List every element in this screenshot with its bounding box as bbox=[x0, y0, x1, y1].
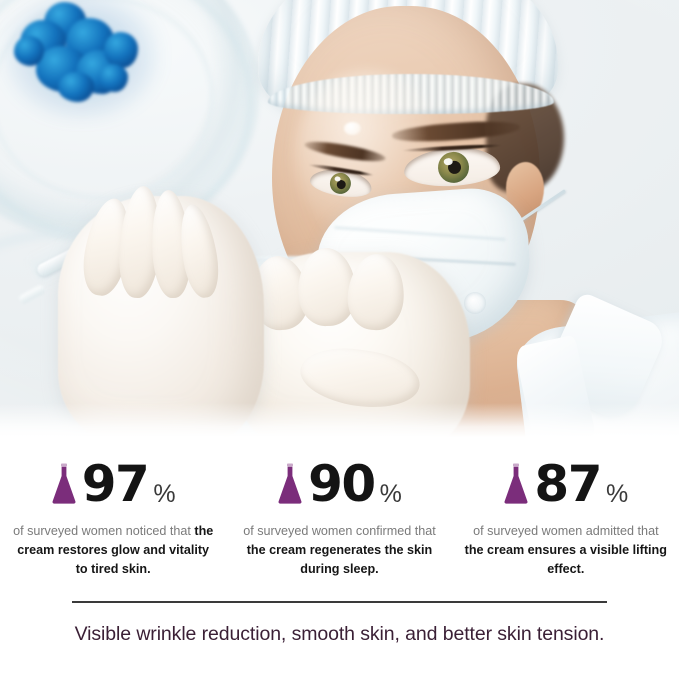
divider-rule bbox=[72, 601, 607, 603]
stat-number-3: 87 bbox=[534, 459, 601, 509]
stat-lead-3: of surveyed women admitted that bbox=[473, 524, 659, 538]
stat-emphasis-3: the cream ensures a visible lifting effe… bbox=[465, 543, 667, 576]
stat-card-2: 90 % of surveyed women confirmed that th… bbox=[226, 455, 452, 579]
stat-figure-3: 87 % bbox=[503, 455, 628, 513]
stat-number-2: 90 bbox=[308, 459, 375, 509]
stat-percent-3: % bbox=[606, 482, 628, 513]
hero-photo bbox=[0, 0, 679, 437]
stat-emphasis-2: the cream regenerates the skin during sl… bbox=[247, 543, 433, 576]
stat-number-1: 97 bbox=[82, 459, 149, 509]
cream-dot-on-forehead bbox=[344, 122, 361, 135]
stat-figure-1: 97 % bbox=[51, 455, 176, 513]
stat-description-1: of surveyed women noticed that the cream… bbox=[10, 522, 216, 579]
face-mask-valve bbox=[464, 292, 486, 314]
flask-icon bbox=[503, 463, 529, 505]
flask-icon bbox=[51, 463, 77, 505]
stat-lead-1: of surveyed women noticed that bbox=[13, 524, 194, 538]
stat-percent-2: % bbox=[380, 482, 402, 513]
stat-percent-1: % bbox=[153, 482, 175, 513]
flask-icon bbox=[277, 463, 303, 505]
blue-crystal-specimen bbox=[14, 2, 142, 106]
stat-lead-2: of surveyed women confirmed that bbox=[243, 524, 436, 538]
stat-card-1: 97 % of surveyed women noticed that the … bbox=[0, 455, 226, 579]
footer-tagline: Visible wrinkle reduction, smooth skin, … bbox=[0, 621, 679, 647]
stat-figure-2: 90 % bbox=[277, 455, 402, 513]
stat-description-2: of surveyed women confirmed that the cre… bbox=[236, 522, 442, 579]
infographic-root: 97 % of surveyed women noticed that the … bbox=[0, 0, 679, 679]
stat-description-3: of surveyed women admitted that the crea… bbox=[463, 522, 669, 579]
stat-card-3: 87 % of surveyed women admitted that the… bbox=[453, 455, 679, 579]
footer: Visible wrinkle reduction, smooth skin, … bbox=[0, 579, 679, 679]
statistics-row: 97 % of surveyed women noticed that the … bbox=[0, 437, 679, 579]
